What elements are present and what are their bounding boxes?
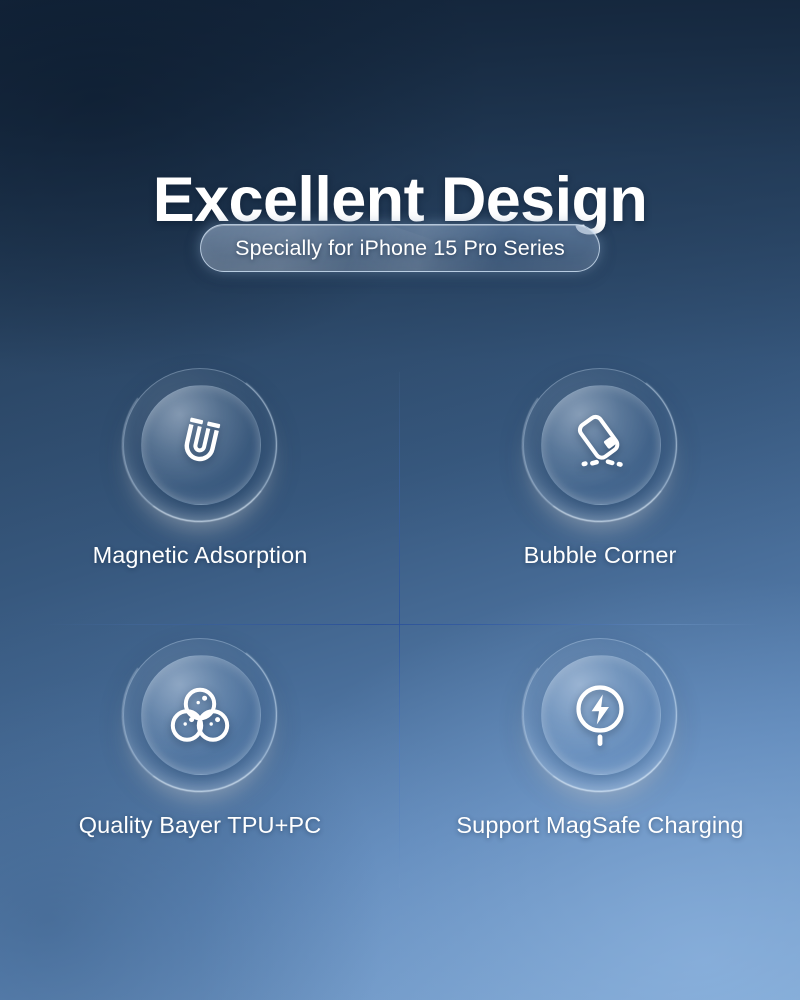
- feature-icon-badge: [123, 638, 277, 792]
- subtitle-pill-container: Specially for iPhone 15 Pro Series: [0, 224, 800, 272]
- feature-label: Quality Bayer TPU+PC: [79, 812, 322, 839]
- promo-poster: Excellent Design Specially for iPhone 15…: [0, 0, 800, 1000]
- feature-grid: Magnetic Adsorption: [0, 360, 800, 900]
- feature-item-magnetic-adsorption: Magnetic Adsorption: [0, 360, 400, 630]
- magnet-icon: [123, 368, 277, 522]
- feature-label: Support MagSafe Charging: [456, 812, 743, 839]
- feature-label: Magnetic Adsorption: [93, 542, 308, 569]
- feature-item-magsafe-charging: Support MagSafe Charging: [400, 630, 800, 900]
- feature-icon-badge: [523, 368, 677, 522]
- feature-label: Bubble Corner: [524, 542, 677, 569]
- wireless-charger-icon: [523, 638, 677, 792]
- subtitle-pill: Specially for iPhone 15 Pro Series: [200, 224, 600, 272]
- feature-icon-badge: [523, 638, 677, 792]
- feature-item-quality-material: Quality Bayer TPU+PC: [0, 630, 400, 900]
- subtitle-pill-label: Specially for iPhone 15 Pro Series: [235, 236, 565, 261]
- bubbles-icon: [123, 638, 277, 792]
- feature-icon-badge: [123, 368, 277, 522]
- dropping-phone-icon: [523, 368, 677, 522]
- feature-item-bubble-corner: Bubble Corner: [400, 360, 800, 630]
